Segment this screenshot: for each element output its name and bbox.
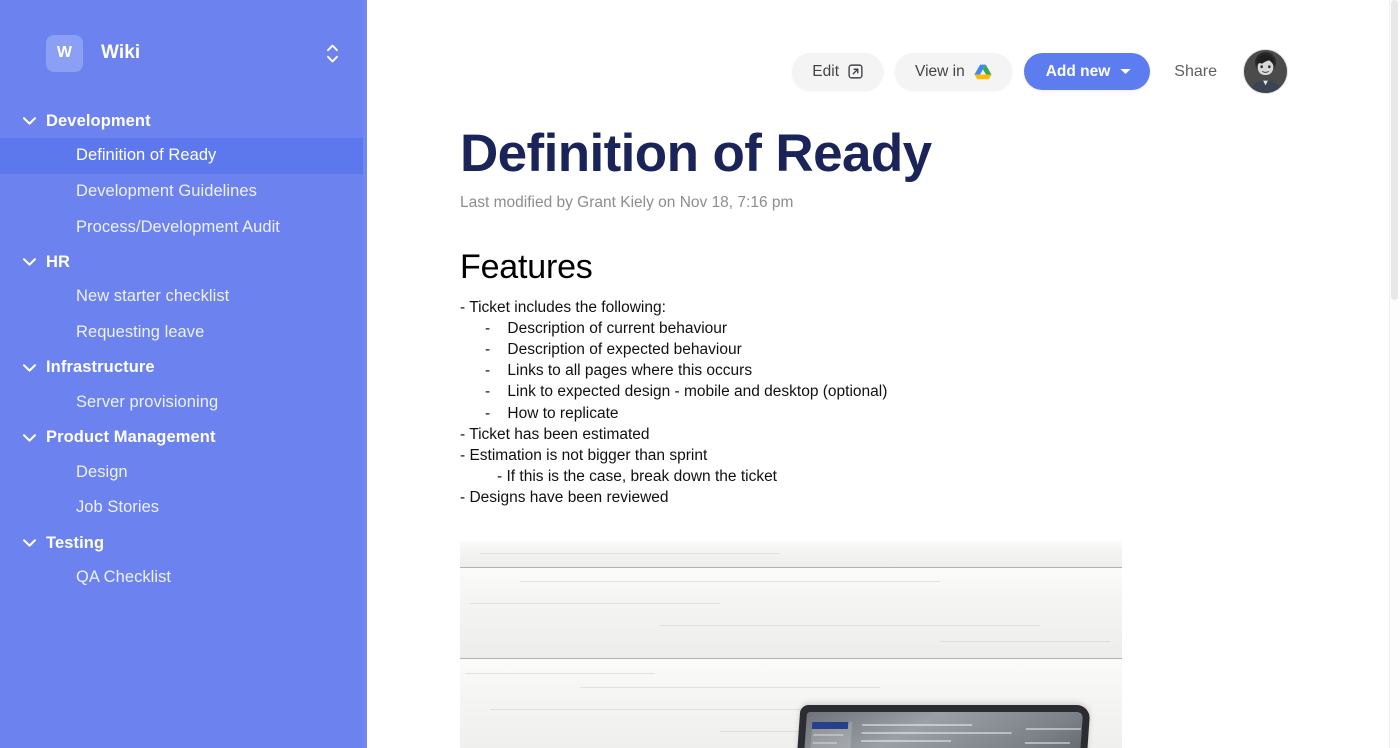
sidebar-section-label: Testing xyxy=(46,534,104,553)
sidebar-item-new-starter-checklist[interactable]: New starter checklist xyxy=(0,279,367,315)
document-line: - If this is the case, break down the ti… xyxy=(460,466,1400,487)
chevron-down-icon xyxy=(18,251,40,273)
document-body: Features - Ticket includes the following… xyxy=(460,248,1400,509)
document-line: - Link to expected design - mobile and d… xyxy=(460,381,1400,402)
sidebar: W Wiki Development Definition of Ready D… xyxy=(0,0,367,748)
share-button[interactable]: Share xyxy=(1174,63,1217,81)
sidebar-item-requesting-leave[interactable]: Requesting leave xyxy=(0,315,367,351)
sidebar-section-infrastructure[interactable]: Infrastructure xyxy=(0,351,367,385)
chevron-down-icon xyxy=(18,427,40,449)
sidebar-item-server-provisioning[interactable]: Server provisioning xyxy=(0,385,367,421)
sidebar-item-qa-checklist[interactable]: QA Checklist xyxy=(0,560,367,596)
laptop-screen xyxy=(802,712,1083,748)
workspace-logo: W xyxy=(46,35,83,72)
document-line: - Links to all pages where this occurs xyxy=(460,360,1400,381)
document-line: - Estimation is not bigger than sprint xyxy=(460,445,1400,466)
vertical-scrollbar[interactable] xyxy=(1389,0,1400,748)
sidebar-item-development-guidelines[interactable]: Development Guidelines xyxy=(0,174,367,210)
edit-button-label: Edit xyxy=(812,63,839,81)
sidebar-section-testing[interactable]: Testing xyxy=(0,526,367,560)
document-image xyxy=(460,541,1122,748)
sidebar-item-process-development-audit[interactable]: Process/Development Audit xyxy=(0,210,367,246)
sidebar-section-label: Product Management xyxy=(46,428,216,447)
document-line: - Description of expected behaviour xyxy=(460,339,1400,360)
add-new-button[interactable]: Add new xyxy=(1024,53,1151,90)
avatar[interactable] xyxy=(1243,49,1288,94)
workspace-brand[interactable]: W Wiki xyxy=(0,20,367,86)
sidebar-nav: Development Definition of Ready Developm… xyxy=(0,104,367,596)
document-line: - How to replicate xyxy=(460,403,1400,424)
view-in-drive-button[interactable]: View in xyxy=(895,53,1012,90)
sidebar-section-development[interactable]: Development xyxy=(0,104,367,138)
sidebar-section-label: HR xyxy=(46,253,70,272)
main-content: Edit View in xyxy=(367,0,1400,748)
view-in-button-label: View in xyxy=(915,63,965,81)
chevron-down-icon xyxy=(18,110,40,132)
sidebar-section-hr[interactable]: HR xyxy=(0,245,367,279)
add-new-button-label: Add new xyxy=(1046,63,1111,81)
sidebar-section-label: Infrastructure xyxy=(46,358,155,377)
last-modified-meta: Last modified by Grant Kiely on Nov 18, … xyxy=(460,194,1400,212)
edit-button[interactable]: Edit xyxy=(792,53,883,90)
google-drive-icon xyxy=(974,64,992,80)
document-line: - Designs have been reviewed xyxy=(460,487,1400,508)
workspace-title: Wiki xyxy=(101,42,140,64)
scrollbar-thumb[interactable] xyxy=(1391,0,1398,300)
sidebar-section-product-management[interactable]: Product Management xyxy=(0,421,367,455)
document-line: - Ticket includes the following: xyxy=(460,297,1400,318)
sidebar-item-definition-of-ready[interactable]: Definition of Ready xyxy=(0,138,367,174)
chevron-down-icon xyxy=(18,357,40,379)
sidebar-section-label: Development xyxy=(46,112,151,131)
document-line: - Description of current behaviour xyxy=(460,318,1400,339)
page-title: Definition of Ready xyxy=(460,126,1400,182)
section-heading-features: Features xyxy=(460,248,1400,287)
laptop-graphic xyxy=(795,705,1090,748)
document: Definition of Ready Last modified by Gra… xyxy=(367,126,1400,748)
chevron-down-icon xyxy=(18,532,40,554)
sidebar-item-design[interactable]: Design xyxy=(0,455,367,491)
page-toolbar: Edit View in xyxy=(367,0,1400,96)
document-line: - Ticket has been estimated xyxy=(460,424,1400,445)
sidebar-item-job-stories[interactable]: Job Stories xyxy=(0,490,367,526)
external-link-icon xyxy=(848,64,863,79)
app-root: W Wiki Development Definition of Ready D… xyxy=(0,0,1400,748)
up-down-chevron-icon[interactable] xyxy=(323,38,345,68)
caret-down-icon xyxy=(1119,67,1132,76)
